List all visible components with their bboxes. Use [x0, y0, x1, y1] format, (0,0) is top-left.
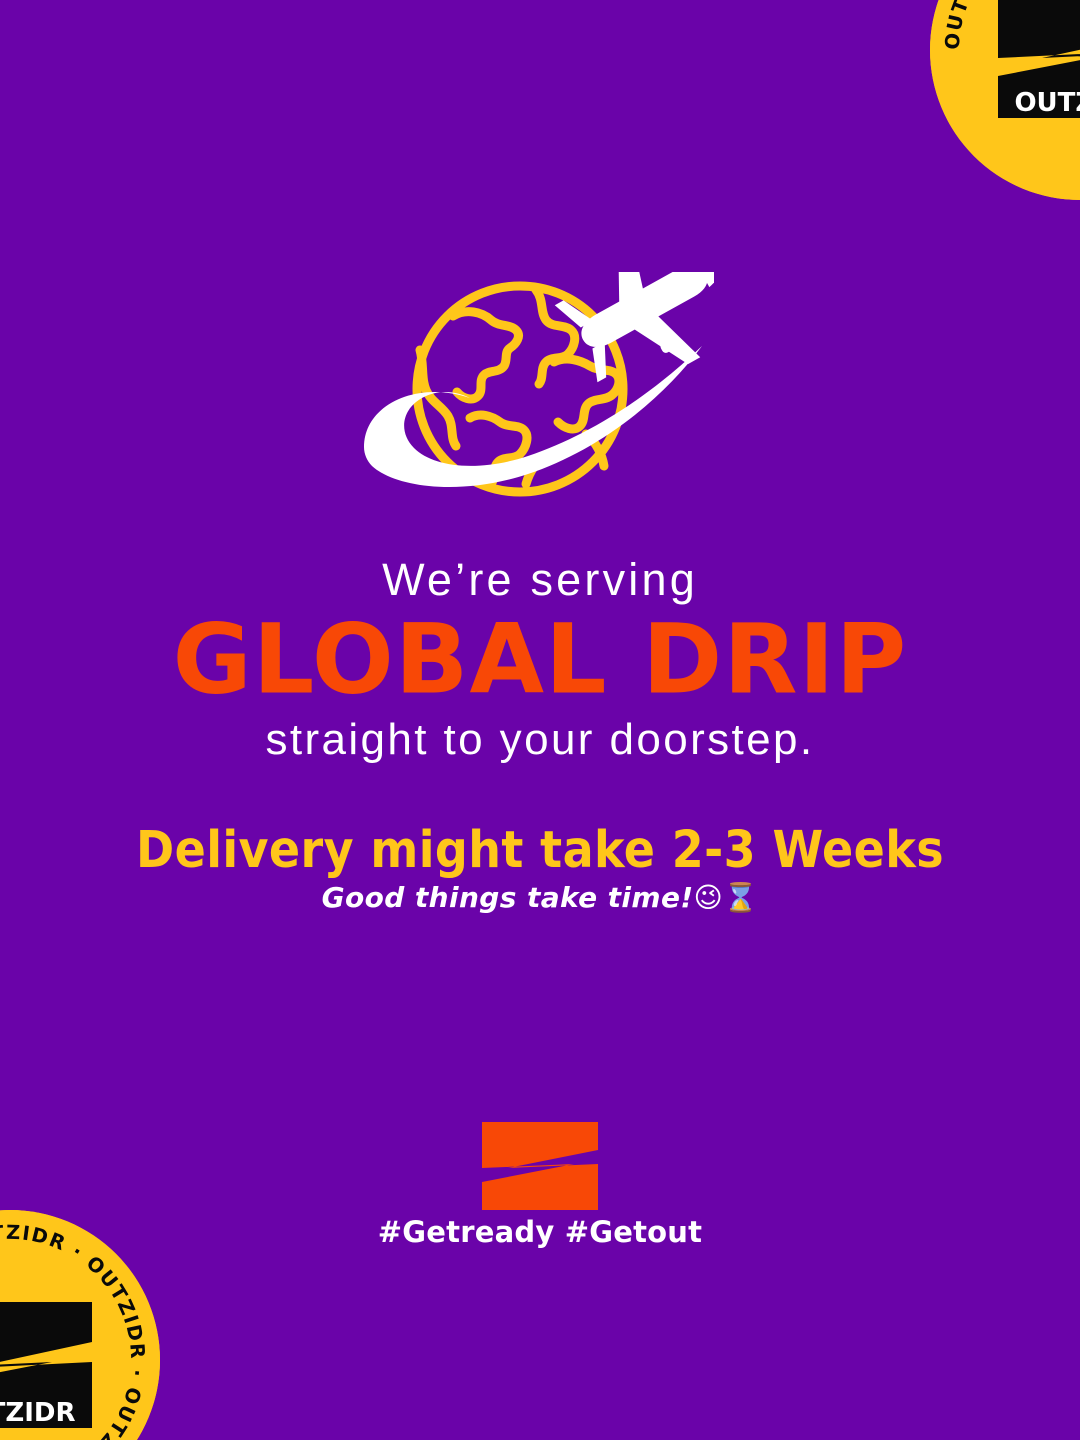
subtitle-text: straight to your doorstep.: [0, 716, 1080, 764]
promo-poster: We’re serving GLOBAL DRIP straight to yo…: [0, 0, 1080, 1440]
eyebrow-text: We’re serving: [0, 557, 1080, 602]
delivery-tagline: Good things take time!😉⌛: [0, 881, 1080, 915]
page-title: GLOBAL DRIP: [0, 612, 1080, 708]
outzidr-sticker-bottom-left: OUTZIDR · OUTZIDR · OUTZIDR · OUTZIDR · …: [0, 1210, 160, 1440]
outzidr-z-logo: [478, 1120, 602, 1212]
badge-center-wordmark-top-right: OUTZIDR: [1014, 88, 1080, 118]
badge-center-wordmark-bottom-left: OUTZIDR: [0, 1398, 76, 1428]
hashtags-text: #Getready #Getout: [0, 1215, 1080, 1250]
tagline-emoji: 😉⌛: [694, 881, 759, 914]
globe-airplane-illustration: [358, 272, 714, 512]
delivery-headline: Delivery might take 2-3 Weeks: [0, 822, 1080, 878]
tagline-text: Good things take time!: [322, 881, 694, 914]
outzidr-sticker-top-right: OUTZIDR · OUTZIDR · OUTZIDR · OUTZIDR · …: [930, 0, 1080, 200]
